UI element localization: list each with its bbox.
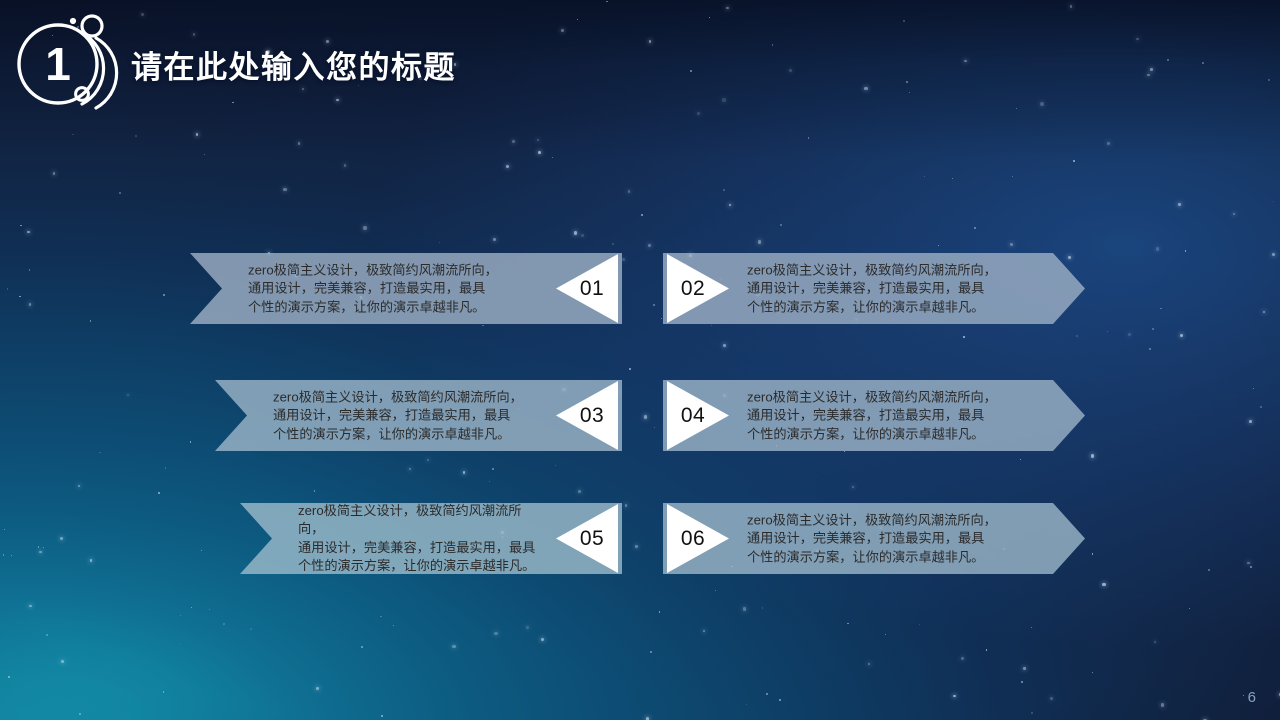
badge-number: 1 [45,38,71,90]
banner-number-06: 06 [671,527,715,551]
banner-number-01: 01 [570,277,614,301]
banner-item-06[interactable]: 06zero极简主义设计，极致简约风潮流所向， 通用设计，完美兼容，打造最实用，… [663,503,1085,574]
page-title: 请在此处输入您的标题 [131,42,456,87]
banner-text: zero极简主义设计，极致简约风潮流所向， 通用设计，完美兼容，打造最实用，最具… [747,511,1047,567]
banner-number-04: 04 [671,404,715,428]
banner-number-05: 05 [570,527,614,551]
banner-number-03: 03 [570,404,614,428]
banner-item-01[interactable]: 01zero极简主义设计，极致简约风潮流所向， 通用设计，完美兼容，打造最实用，… [190,253,622,324]
orbit-circle-icon: 1 [12,8,124,112]
banner-text: zero极简主义设计，极致简约风潮流所向， 通用设计，完美兼容，打造最实用，最具… [747,388,1047,444]
banner-item-04[interactable]: 04zero极简主义设计，极致简约风潮流所向， 通用设计，完美兼容，打造最实用，… [663,380,1085,451]
banner-item-05[interactable]: 05zero极简主义设计，极致简约风潮流所向， 通用设计，完美兼容，打造最实用，… [240,503,622,574]
section-number-badge: 1 [12,8,124,112]
banner-text: zero极简主义设计，极致简约风潮流所向， 通用设计，完美兼容，打造最实用，最具… [298,502,546,576]
banner-text: zero极简主义设计，极致简约风潮流所向， 通用设计，完美兼容，打造最实用，最具… [747,261,1047,317]
slide-header: 1 请在此处输入您的标题 [0,0,1280,120]
banner-text: zero极简主义设计，极致简约风潮流所向， 通用设计，完美兼容，打造最实用，最具… [248,261,546,317]
page-number: 6 [1248,689,1256,706]
banner-number-02: 02 [671,277,715,301]
slide-canvas: 1 请在此处输入您的标题 01zero极简主义设计，极致简约风潮流所向， 通用设… [0,0,1280,720]
banner-item-02[interactable]: 02zero极简主义设计，极致简约风潮流所向， 通用设计，完美兼容，打造最实用，… [663,253,1085,324]
banner-text: zero极简主义设计，极致简约风潮流所向， 通用设计，完美兼容，打造最实用，最具… [273,388,546,444]
banner-item-03[interactable]: 03zero极简主义设计，极致简约风潮流所向， 通用设计，完美兼容，打造最实用，… [215,380,622,451]
